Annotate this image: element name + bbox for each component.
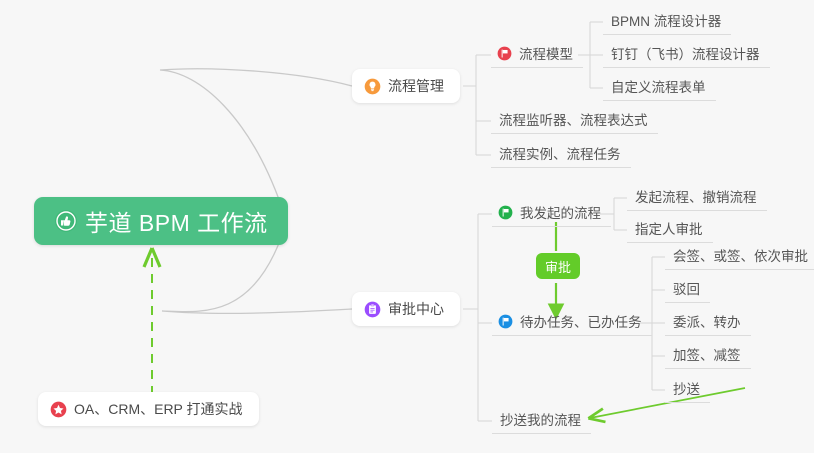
node-process-model[interactable]: 流程模型 — [491, 42, 583, 68]
flag-icon — [497, 46, 512, 61]
node-label: BPMN 流程设计器 — [611, 10, 721, 30]
flag-icon — [498, 205, 513, 220]
node-todo-done-tasks[interactable]: 待办任务、已办任务 — [492, 310, 652, 336]
node-reject[interactable]: 驳回 — [665, 277, 710, 303]
thumbs-up-icon — [54, 209, 78, 233]
star-icon — [50, 401, 67, 418]
node-label: 驳回 — [673, 278, 700, 298]
node-dingtalk-feishu-designer[interactable]: 钉钉（飞书）流程设计器 — [603, 42, 770, 68]
root-node[interactable]: 芋道 BPM 工作流 — [34, 197, 288, 245]
integration-callout[interactable]: OA、CRM、ERP 打通实战 — [38, 392, 259, 426]
node-add-remove-sign[interactable]: 加签、减签 — [665, 343, 751, 369]
node-listener-expression[interactable]: 流程监听器、流程表达式 — [491, 108, 658, 134]
node-label: 自定义流程表单 — [611, 76, 706, 96]
node-label: 指定人审批 — [635, 218, 703, 238]
node-custom-process-form[interactable]: 自定义流程表单 — [603, 75, 716, 101]
node-label: 流程模型 — [519, 43, 573, 63]
callout-label: OA、CRM、ERP 打通实战 — [74, 399, 243, 419]
node-label: 待办任务、已办任务 — [520, 311, 642, 331]
node-delegate-transfer[interactable]: 委派、转办 — [665, 310, 751, 336]
node-label: 发起流程、撤销流程 — [635, 186, 757, 206]
node-assignee-approval[interactable]: 指定人审批 — [627, 217, 713, 243]
branch-label: 流程管理 — [388, 76, 444, 96]
clipboard-icon — [364, 301, 381, 318]
node-label: 抄送 — [673, 378, 700, 398]
node-cc[interactable]: 抄送 — [665, 377, 710, 403]
node-my-initiated-processes[interactable]: 我发起的流程 — [492, 201, 611, 227]
node-countersign-modes[interactable]: 会签、或签、依次审批 — [665, 244, 814, 270]
node-label: 抄送我的流程 — [500, 409, 581, 429]
mindmap-canvas: 芋道 BPM 工作流 流程管理 流程模型 BPMN 流程设计器 钉钉（飞书）流程 — [0, 0, 814, 453]
node-label: 钉钉（飞书）流程设计器 — [611, 43, 760, 63]
node-label: 流程实例、流程任务 — [499, 143, 621, 163]
node-label: 会签、或签、依次审批 — [673, 245, 808, 265]
node-label: 委派、转办 — [673, 311, 741, 331]
tag-label: 审批 — [545, 257, 571, 276]
node-cc-to-me-processes[interactable]: 抄送我的流程 — [492, 408, 591, 434]
root-label: 芋道 BPM 工作流 — [85, 204, 268, 238]
node-label: 流程监听器、流程表达式 — [499, 109, 648, 129]
branch-label: 审批中心 — [388, 299, 444, 319]
node-label: 我发起的流程 — [520, 202, 601, 222]
node-label: 加签、减签 — [673, 344, 741, 364]
node-instance-task[interactable]: 流程实例、流程任务 — [491, 142, 631, 168]
branch-node-process-management[interactable]: 流程管理 — [352, 69, 460, 103]
node-bpmn-designer[interactable]: BPMN 流程设计器 — [603, 9, 731, 35]
flag-icon — [498, 314, 513, 329]
lightbulb-icon — [364, 78, 381, 95]
approval-flow-tag: 审批 — [536, 253, 580, 279]
root-branch-edges — [160, 69, 352, 314]
node-start-cancel-process[interactable]: 发起流程、撤销流程 — [627, 185, 767, 211]
branch-node-approval-center[interactable]: 审批中心 — [352, 292, 460, 326]
